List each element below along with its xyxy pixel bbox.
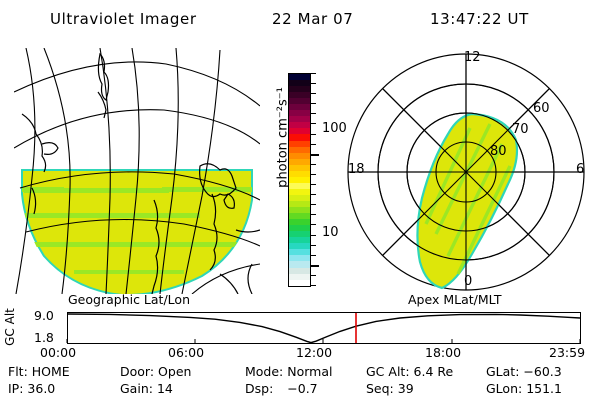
status-flt-label: Flt: [8,364,28,379]
status-flt-value: HOME [32,364,70,379]
orbit-x-tickmarks [67,339,580,343]
status-gain-label: Gain: [120,381,153,396]
status-row-1: Flt: HOME Door: Open Mode: Normal GC Alt… [0,364,600,380]
status-gain: Gain: 14 [120,381,173,396]
status-mode-value: Normal [287,364,332,379]
orbit-altitude-plot[interactable]: GC Alt 9.0 1.8 00:00 06:00 12:00 18:00 2… [0,306,600,362]
status-ip-value: 36.0 [27,381,55,396]
mlt-label-0: 0 [464,274,472,289]
colorbar-gradient-box [288,73,311,287]
orbit-x-tick-2359: 23:59 [549,347,585,360]
orbit-x-tick-0600: 06:00 [168,347,204,360]
mlat-label-60: 60 [533,101,550,116]
geographic-map-svg [14,48,260,294]
status-door-value: Open [158,364,191,379]
status-mode-label: Mode: [245,364,283,379]
status-glon: GLon: 151.1 [486,381,562,396]
mlt-label-12: 12 [464,50,481,65]
status-dsp-label: Dsp: [245,381,273,396]
status-glat: GLat: −60.3 [486,364,562,379]
status-seq-label: Seq: [366,381,394,396]
status-gc-alt-label: GC Alt: [366,364,410,379]
status-glon-label: GLon: [486,381,522,396]
header-bar: Ultraviolet Imager 22 Mar 07 13:47:22 UT [0,6,600,30]
status-door-label: Door: [120,364,154,379]
orbit-altitude-trace [68,314,580,343]
status-row-2: IP: 36.0 Gain: 14 Dsp: −0.7 Seq: 39 GLon… [0,381,600,397]
uv-imager-display: Ultraviolet Imager 22 Mar 07 13:47:22 UT [0,0,600,400]
colorbar[interactable]: photon cm⁻²s⁻¹ 100 10 [262,48,340,296]
mlat-label-70: 70 [512,122,529,137]
geographic-map-panel[interactable] [14,48,260,294]
status-seq: Seq: 39 [366,381,414,396]
status-gain-value: 14 [157,381,173,396]
colorbar-ticks [310,73,318,287]
orbit-x-tick-1200: 12:00 [296,347,332,360]
status-ip-label: IP: [8,381,23,396]
status-glat-value: −60.3 [523,364,561,379]
caption-apex: Apex MLat/MLT [408,292,502,307]
status-glat-label: GLat: [486,364,519,379]
status-gc-alt-value: 6.4 Re [414,364,454,379]
apex-polar-panel[interactable]: 12 18 6 0 60 70 80 [340,48,592,294]
status-glon-value: 151.1 [526,381,562,396]
mlat-circles-overlay [348,54,584,290]
status-seq-value: 39 [398,381,414,396]
observation-time: 13:47:22 UT [430,10,529,28]
status-flt: Flt: HOME [8,364,70,379]
instrument-title: Ultraviolet Imager [50,10,197,28]
apex-polar-svg [340,48,592,294]
status-dsp-value: −0.7 [287,381,317,396]
aurora-region-apex [417,114,517,288]
mlt-label-6: 6 [576,162,584,177]
status-ip: IP: 36.0 [8,381,55,396]
caption-geographic: Geographic Lat/Lon [68,292,190,307]
status-dsp: Dsp: −0.7 [245,381,318,396]
mlt-label-18: 18 [348,162,365,177]
orbit-x-tick-1800: 18:00 [425,347,461,360]
observation-date: 22 Mar 07 [272,10,353,28]
mlat-label-80: 80 [490,144,507,159]
colorbar-gradient [289,74,310,286]
orbit-x-tick-0000: 00:00 [40,347,76,360]
status-gc-alt: GC Alt: 6.4 Re [366,364,453,379]
status-door: Door: Open [120,364,191,379]
colorbar-tick-label-10: 10 [322,226,339,239]
status-mode: Mode: Normal [245,364,333,379]
